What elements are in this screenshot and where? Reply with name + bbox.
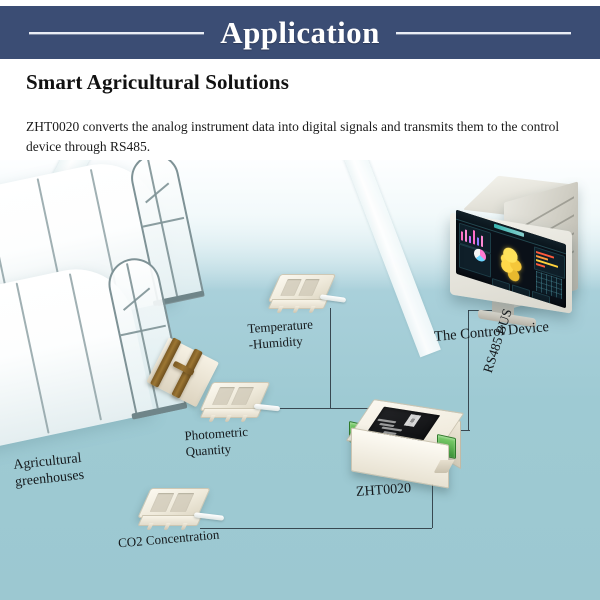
application-page: Application Smart Agricultural Solutions… (0, 0, 600, 600)
temperature-humidity-sensor (268, 274, 346, 316)
wire-co2-horizontal (200, 528, 432, 529)
page-title: Application (214, 15, 385, 51)
control-device (448, 190, 598, 340)
label-temperature-line1: Temperature (247, 316, 313, 336)
application-diagram: Agricultural greenhouses Temperature -Hu… (0, 160, 600, 600)
section-description: ZHT0020 converts the analog instrument d… (26, 117, 582, 157)
section-subtitle: Smart Agricultural Solutions (26, 70, 289, 95)
photometric-quantity-sensor (200, 382, 280, 426)
label-temperature-humidity: Temperature -Humidity (247, 315, 335, 353)
page-banner: Application (0, 6, 600, 59)
zht0020-converter (345, 398, 467, 490)
label-temperature-line2: -Humidity (248, 333, 303, 352)
banner-rule-right (396, 32, 571, 34)
label-photometric-line2: Quantity (185, 441, 231, 459)
label-photometric-line1: Photometric (184, 424, 248, 443)
label-photometric-quantity: Photometric Quantity (184, 422, 278, 460)
label-co2-concentration: CO2 Concentration (118, 527, 220, 552)
label-zht0020: ZHT0020 (355, 480, 411, 501)
banner-rule-left (29, 32, 204, 34)
